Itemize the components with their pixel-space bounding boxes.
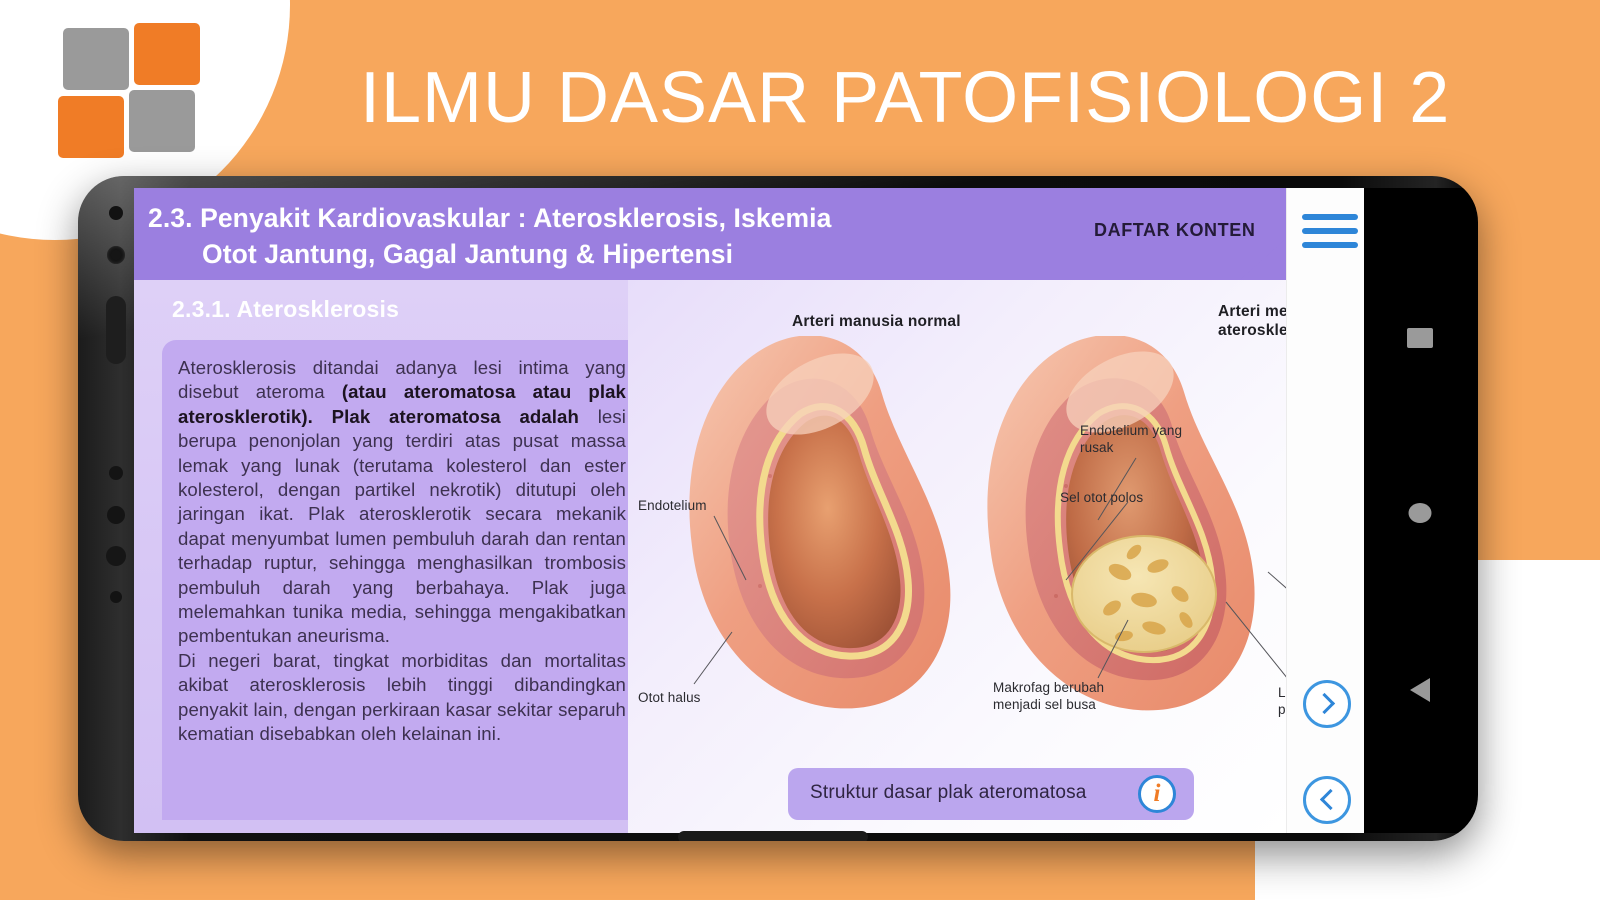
chapter-title-line1: 2.3. Penyakit Kardiovaskular : Ateroskle… — [148, 203, 831, 233]
info-icon-glyph: i — [1141, 777, 1173, 811]
content-panel: 2.3.1. Aterosklerosis Aterosklerosis dit… — [134, 280, 1286, 833]
menu-bar-3 — [1302, 242, 1358, 248]
logo-tile-top-right — [134, 23, 200, 85]
figure-caption-bar[interactable]: Struktur dasar plak ateromatosa i — [788, 768, 1194, 820]
section-heading: 2.3.1. Aterosklerosis — [172, 296, 399, 323]
illustration-narrowed-artery — [948, 336, 1278, 736]
figure-caption-text: Struktur dasar plak ateromatosa — [810, 782, 1087, 804]
next-page-button[interactable] — [1303, 680, 1351, 728]
phone-body: 2.3. Penyakit Kardiovaskular : Ateroskle… — [78, 176, 1478, 841]
chapter-title: 2.3. Penyakit Kardiovaskular : Ateroskle… — [148, 200, 1038, 272]
body-text-card[interactable]: Aterosklerosis ditandai adanya lesi inti… — [162, 340, 642, 820]
previous-page-button[interactable] — [1303, 776, 1351, 824]
phone-speaker — [678, 831, 868, 841]
phone-earpiece — [106, 296, 126, 364]
phone-sensor-dot-3 — [107, 506, 125, 524]
text-column: 2.3.1. Aterosklerosis Aterosklerosis dit… — [148, 280, 648, 833]
label-otot-halus: Otot halus — [638, 690, 701, 707]
logo-tile-bottom-left — [58, 96, 124, 158]
phone-sensor-dot-5 — [110, 591, 122, 603]
figure-area[interactable]: Arteri manusia normal Arteri menyempit o… — [628, 280, 1286, 833]
page-nav-rail — [1286, 188, 1364, 833]
app-banner-title: ILMU DASAR PATOFISIOLOGI 2 — [360, 52, 1540, 144]
label-lipid-kalsium: Lipid, kalsium, puing seluler — [1278, 685, 1286, 718]
menu-bar-1 — [1302, 214, 1358, 220]
back-triangle-icon[interactable] — [1410, 678, 1430, 702]
body-text: Aterosklerosis ditandai adanya lesi inti… — [178, 356, 626, 747]
recents-square-icon[interactable] — [1407, 328, 1433, 348]
logo-tile-bottom-right — [129, 90, 195, 152]
chevron-left-icon — [1320, 789, 1341, 810]
logo-tile-top-left — [63, 28, 129, 90]
phone-sensor-dot-2 — [109, 466, 123, 480]
four-squares-logo — [58, 18, 218, 163]
label-endotelium: Endotelium — [638, 498, 707, 515]
label-makrofag: Makrofag berubah menjadi sel busa — [993, 680, 1143, 713]
paragraph1-post: lesi berupa penonjolan yang terdiri atas… — [178, 406, 626, 647]
hamburger-menu-icon[interactable] — [1302, 214, 1358, 256]
label-endotelium-rusak: Endotelium yang rusak — [1080, 423, 1190, 456]
info-icon[interactable]: i — [1138, 775, 1176, 813]
chevron-right-icon — [1314, 693, 1335, 714]
illustration-normal-artery — [650, 336, 970, 736]
home-circle-icon[interactable] — [1409, 503, 1432, 523]
figure-title-narrowed-artery: Arteri menyempit oleh plak ateroskleroti… — [1218, 302, 1286, 340]
phone-proximity-sensor — [109, 206, 123, 220]
label-sel-otot-polos: Sel otot polos — [1060, 490, 1143, 507]
phone-screen: 2.3. Penyakit Kardiovaskular : Ateroskle… — [134, 188, 1364, 833]
paragraph2: Di negeri barat, tingkat morbiditas dan … — [178, 649, 626, 747]
phone-sensor-dot-4 — [106, 546, 126, 566]
figure-title-normal-artery: Arteri manusia normal — [792, 312, 961, 331]
chapter-title-line2: Otot Jantung, Gagal Jantung & Hipertensi — [148, 236, 1038, 272]
menu-bar-2 — [1302, 228, 1358, 234]
phone-mockup: 2.3. Penyakit Kardiovaskular : Ateroskle… — [78, 176, 1478, 841]
android-navigation-bar — [1364, 188, 1476, 833]
daftar-konten-button[interactable]: DAFTAR KONTEN — [1094, 220, 1255, 241]
phone-front-camera-icon — [107, 246, 125, 264]
